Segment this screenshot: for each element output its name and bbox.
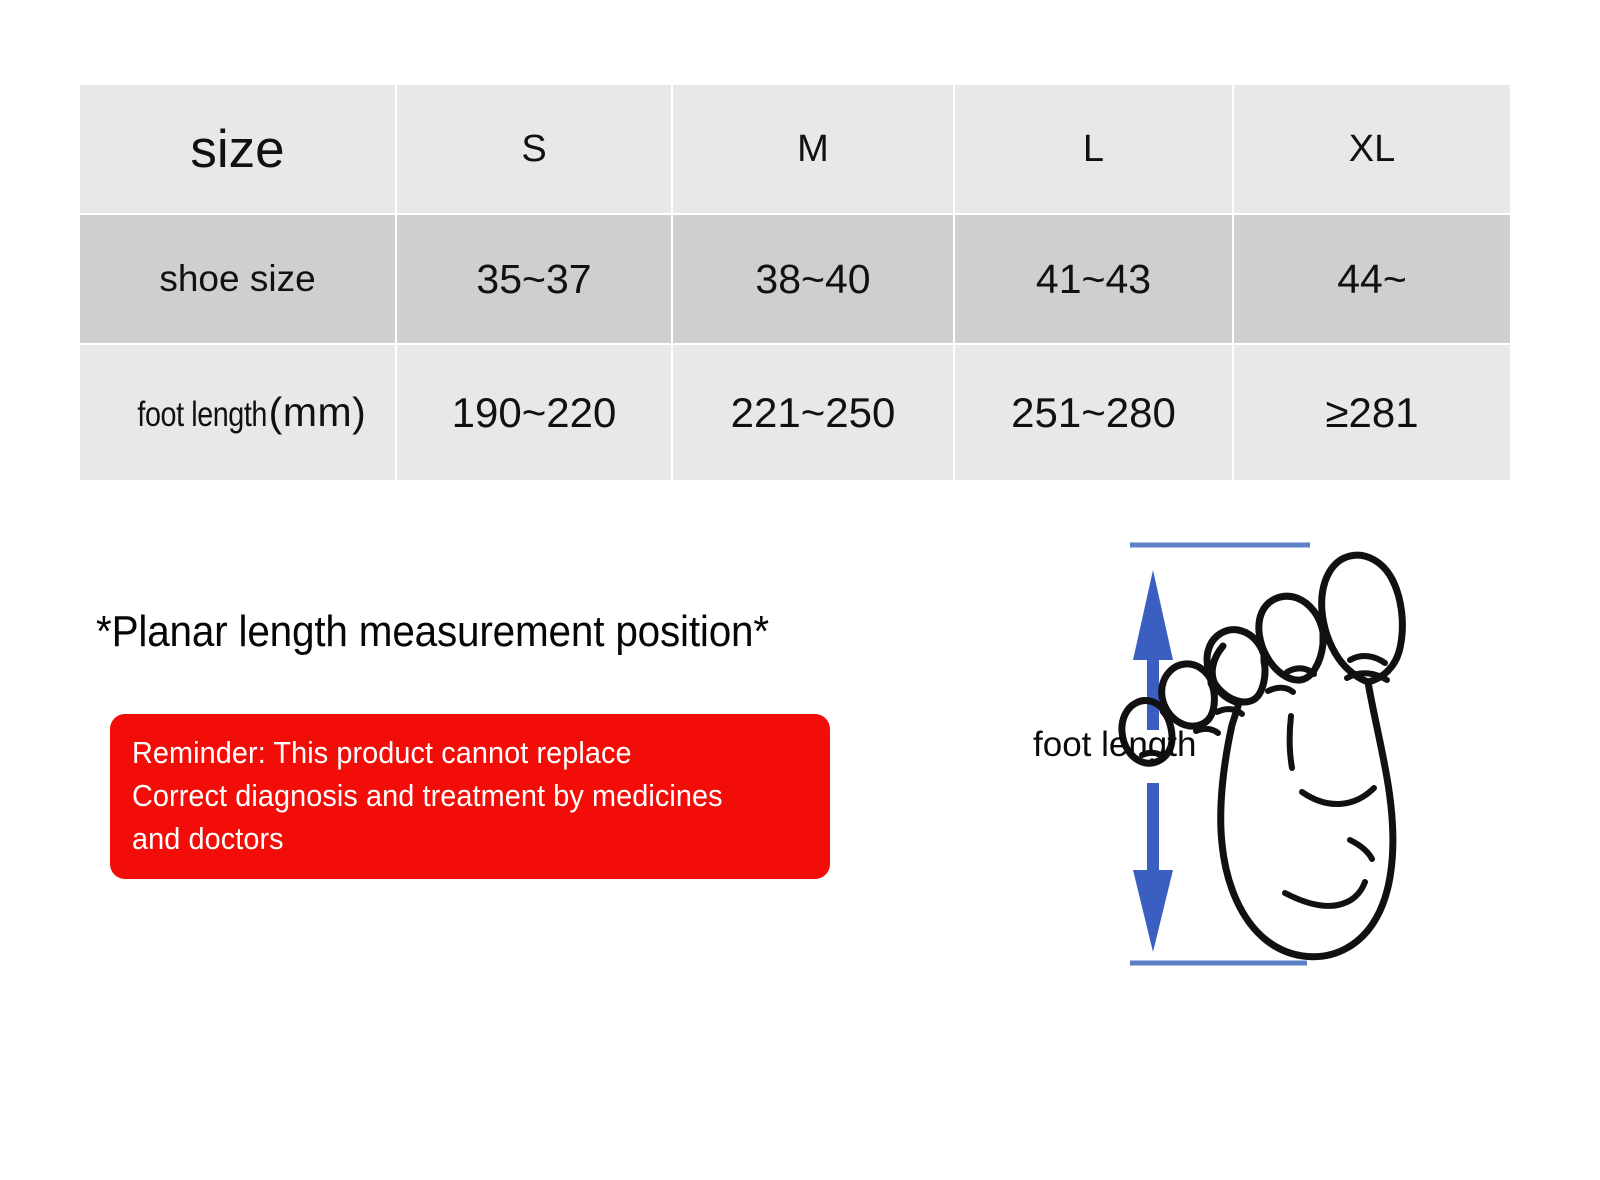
row-label-foot-length: foot length(mm) — [79, 344, 396, 481]
reminder-callout: Reminder: This product cannot replace Co… — [110, 714, 830, 879]
table-header-l: L — [954, 84, 1233, 214]
size-chart-table: size S M L XL shoe size 35~37 38~40 41~4… — [78, 83, 1512, 482]
shoe-size-s: 35~37 — [396, 214, 672, 344]
row-label-shoe-size: shoe size — [79, 214, 396, 344]
foot-length-m: 221~250 — [672, 344, 954, 481]
reminder-line-3: and doctors — [132, 817, 781, 860]
shoe-size-m: 38~40 — [672, 214, 954, 344]
table-header-s: S — [396, 84, 672, 214]
down-arrow-icon — [1133, 783, 1173, 952]
row-label-foot-length-unit: (mm) — [269, 392, 367, 433]
foot-length-s: 190~220 — [396, 344, 672, 481]
table-header-size: size — [79, 84, 396, 214]
foot-length-xl: ≥281 — [1233, 344, 1511, 481]
planar-measurement-note: *Planar length measurement position* — [96, 607, 769, 657]
reminder-line-2: Correct diagnosis and treatment by medic… — [132, 774, 781, 817]
reminder-line-1: Reminder: This product cannot replace — [132, 731, 781, 774]
row-label-foot-length-text: foot length — [137, 397, 267, 432]
table-header-xl: XL — [1233, 84, 1511, 214]
foot-length-label: foot length — [1033, 725, 1196, 765]
foot-length-l: 251~280 — [954, 344, 1233, 481]
shoe-size-xl: 44~ — [1233, 214, 1511, 344]
table-header-row: size S M L XL — [79, 84, 1511, 214]
table-row-foot-length: foot length(mm) 190~220 221~250 251~280 … — [79, 344, 1511, 481]
shoe-size-l: 41~43 — [954, 214, 1233, 344]
table-row-shoe-size: shoe size 35~37 38~40 41~43 44~ — [79, 214, 1511, 344]
foot-length-diagram: foot length — [1010, 520, 1440, 985]
table-header-m: M — [672, 84, 954, 214]
